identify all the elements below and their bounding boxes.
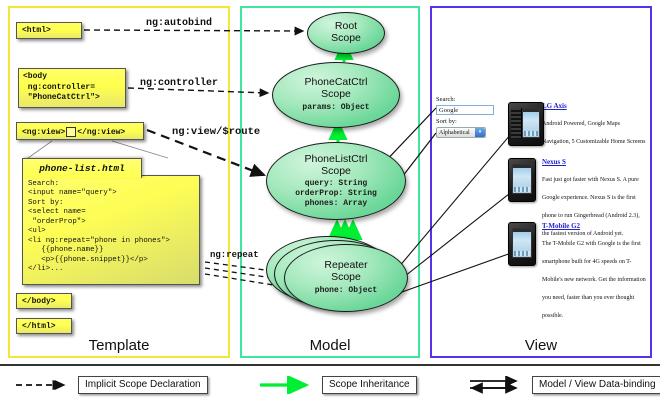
sort-select[interactable]: Alphabetical ▾ <box>436 127 486 138</box>
dashed-arrow-icon <box>14 376 72 394</box>
phone-snippet: The T-Mobile G2 with Google is the first… <box>542 241 646 319</box>
phone-keyboard-icon <box>511 108 522 139</box>
phone-list-item[interactable]: LG Axis Android Powered, Google Maps Nav… <box>508 102 648 148</box>
edge-label-controller: ng:controller <box>140 78 218 89</box>
ngview-close-tag: </ng:view> <box>77 128 125 137</box>
legend-item-data-binding: Model / View Data-binding <box>468 376 660 394</box>
phone-list-item[interactable]: T-Mobile G2 The T-Mobile G2 with Google … <box>508 222 648 322</box>
view-app-mock: Search: Google Sort by: Alphabetical ▾ L… <box>436 96 648 290</box>
phone-list-note-title: phone-list.html <box>22 158 142 178</box>
sort-select-value: Alphabetical <box>439 130 470 136</box>
scope-phonelistctrl-title: PhoneListCtrl Scope <box>304 154 367 178</box>
double-arrow-icon <box>468 376 526 394</box>
code-body-close: </body> <box>16 293 72 309</box>
search-label: Search: <box>436 96 456 103</box>
search-input[interactable]: Google <box>436 105 494 115</box>
phone-screen-icon <box>512 164 532 194</box>
scope-phonelistctrl-props: query: String orderProp: String phones: … <box>295 179 377 208</box>
legend-label-implicit-scope: Implicit Scope Declaration <box>78 376 208 395</box>
chevron-updown-icon: ▾ <box>475 128 485 137</box>
phone-item-text: LG Axis Android Powered, Google Maps Nav… <box>542 102 648 148</box>
scope-phonelistctrl: PhoneListCtrl Scope query: String orderP… <box>266 142 406 220</box>
green-arrow-icon <box>258 376 316 394</box>
code-ngview: <ng:view></ng:view> <box>16 122 144 140</box>
phone-list-note: phone-list.html Search: <input name="que… <box>22 158 200 286</box>
code-html-close: </html> <box>16 318 72 334</box>
scope-root-title: Root Scope <box>331 21 361 45</box>
phone-thumbnail-icon <box>508 158 536 202</box>
legend-label-data-binding: Model / View Data-binding <box>532 376 660 395</box>
phone-list-note-code: Search: <input name="query"> Sort by: <s… <box>22 175 200 285</box>
phone-name-link[interactable]: T-Mobile G2 <box>542 222 648 230</box>
panel-model-title: Model <box>242 337 418 354</box>
edge-label-ngrepeat: ng:repeat <box>210 250 259 260</box>
scope-phonecatctrl-props: params: Object <box>302 103 369 113</box>
legend-item-scope-inheritance: Scope Inheritance <box>258 376 417 394</box>
ngview-placeholder-icon <box>66 127 76 137</box>
edge-label-autobind: ng:autobind <box>146 18 212 29</box>
legend-divider <box>0 364 660 366</box>
phone-name-link[interactable]: LG Axis <box>542 102 648 110</box>
code-html-open: <html> <box>16 22 82 39</box>
scope-phonecatctrl-title: PhoneCatCtrl Scope <box>304 77 367 101</box>
code-body-open: <body ng:controller= "PhoneCatCtrl"> <box>18 68 126 108</box>
phone-thumbnail-icon <box>508 102 544 146</box>
panel-template-title: Template <box>10 337 228 354</box>
edge-label-ngview-route: ng:view/$route <box>172 126 260 138</box>
phone-item-text: T-Mobile G2 The T-Mobile G2 with Google … <box>542 222 648 322</box>
diagram-canvas: Template Model View <box>0 0 660 405</box>
scope-repeater-title: Repeater Scope <box>324 260 367 284</box>
phone-snippet: Android Powered, Google Maps Navigation,… <box>542 121 645 145</box>
scope-phonecatctrl: PhoneCatCtrl Scope params: Object <box>272 62 400 128</box>
phone-name-link[interactable]: Nexus S <box>542 158 648 166</box>
legend-label-scope-inheritance: Scope Inheritance <box>322 376 417 395</box>
scope-root: Root Scope <box>307 12 385 54</box>
ngview-open-tag: <ng:view> <box>22 128 65 137</box>
phone-thumbnail-icon <box>508 222 536 266</box>
sort-label: Sort by: <box>436 118 457 125</box>
scope-repeater: Repeater Scope phone: Object <box>284 244 408 312</box>
legend: Implicit Scope Declaration Scope Inherit… <box>0 364 660 405</box>
legend-item-implicit-scope: Implicit Scope Declaration <box>14 376 208 394</box>
phone-screen-icon <box>522 108 540 138</box>
scope-repeater-props: phone: Object <box>315 286 377 296</box>
panel-view-title: View <box>432 337 650 354</box>
phone-screen-icon <box>512 228 532 258</box>
